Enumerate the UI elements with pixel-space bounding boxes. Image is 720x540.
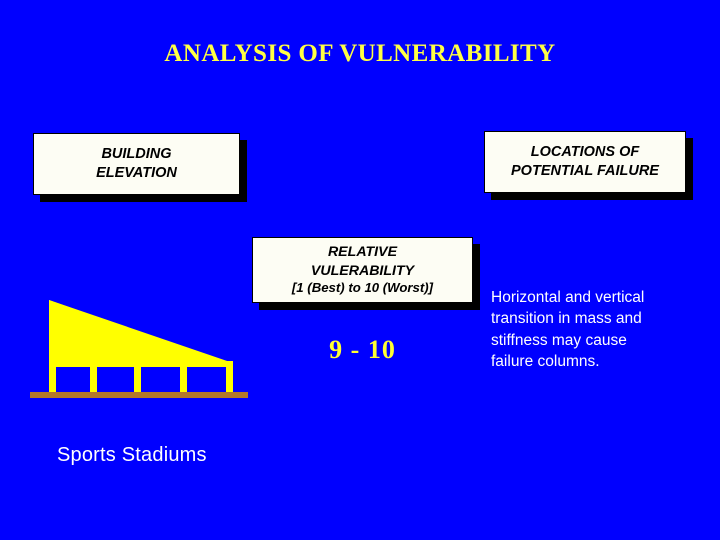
- stadium-column: [134, 361, 141, 393]
- stadium-bay-opening: [97, 367, 134, 393]
- failure-description-line2: transition in mass and: [491, 308, 703, 329]
- callout-locations-line1: LOCATIONS OF: [531, 143, 639, 162]
- page-title: ANALYSIS OF VULNERABILITY: [0, 40, 720, 68]
- failure-description-line4: failure columns.: [491, 351, 703, 372]
- grandstand-wedge-fill: [49, 300, 233, 369]
- stadium-column: [226, 361, 233, 393]
- stadium-bay-opening: [141, 367, 180, 393]
- failure-description-line1: Horizontal and vertical: [491, 287, 703, 308]
- vulnerability-rating-value: 9 - 10: [252, 335, 473, 365]
- stadium-bay-opening: [187, 367, 226, 393]
- callout-building-elevation-line2: ELEVATION: [96, 164, 177, 183]
- callout-relative-vulnerability-line1: RELATIVE: [328, 243, 397, 261]
- stadium-diagram-svg: [28, 295, 258, 403]
- stadium-bay-opening: [56, 367, 90, 393]
- stadium-column: [49, 361, 56, 393]
- callout-locations-line2: POTENTIAL FAILURE: [511, 162, 659, 181]
- slide-canvas: ANALYSIS OF VULNERABILITY BUILDING ELEVA…: [0, 0, 720, 540]
- callout-locations-of-potential-failure: LOCATIONS OF POTENTIAL FAILURE: [484, 131, 686, 193]
- failure-description-text: Horizontal and vertical transition in ma…: [491, 287, 703, 373]
- stadium-elevation-diagram: [28, 295, 258, 403]
- stadium-column: [90, 361, 97, 393]
- callout-building-elevation: BUILDING ELEVATION: [33, 133, 240, 195]
- callout-relative-vulnerability: RELATIVE VULERABILITY [1 (Best) to 10 (W…: [252, 237, 473, 303]
- stadium-column: [180, 361, 187, 393]
- diagram-caption: Sports Stadiums: [57, 444, 207, 467]
- callout-relative-vulnerability-scale: [1 (Best) to 10 (Worst)]: [292, 280, 433, 297]
- failure-description-line3: stiffness may cause: [491, 330, 703, 351]
- ground-line: [30, 392, 248, 398]
- callout-relative-vulnerability-line2: VULERABILITY: [311, 262, 414, 280]
- callout-building-elevation-line1: BUILDING: [101, 145, 171, 164]
